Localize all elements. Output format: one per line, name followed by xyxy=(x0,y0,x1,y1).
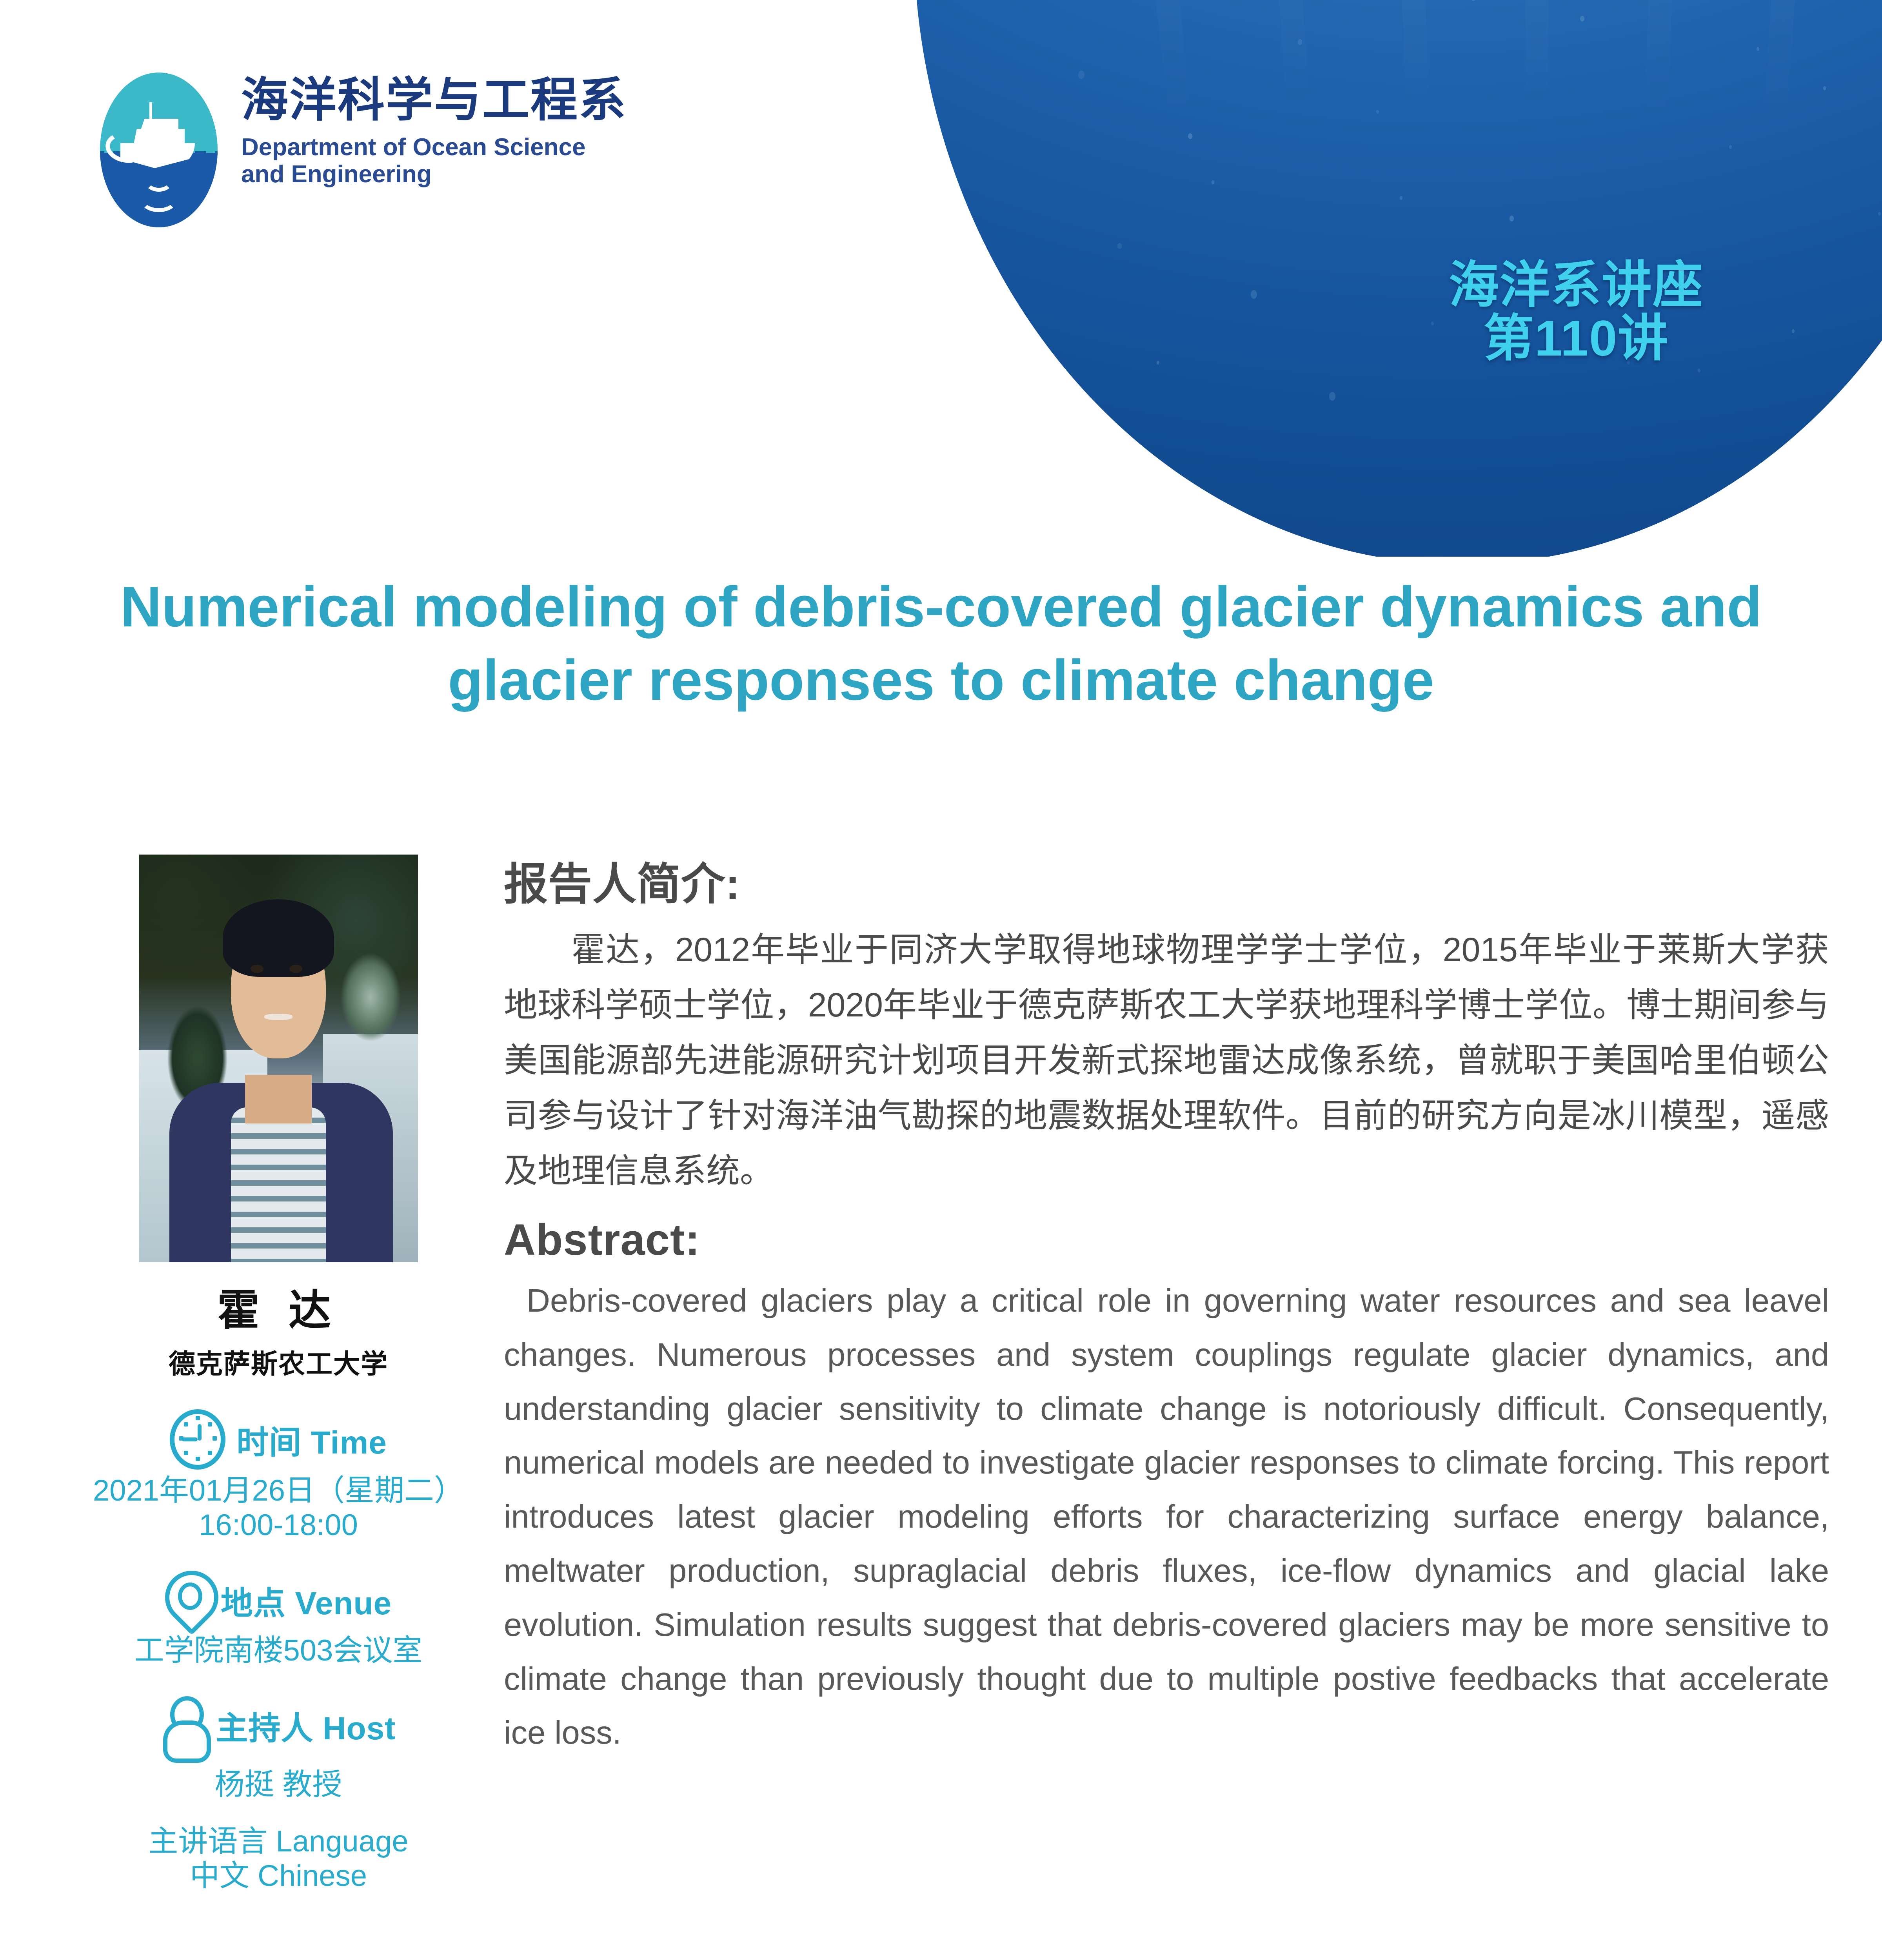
content-column: 报告人简介: 霍达，2012年毕业于同济大学取得地球物理学学士学位，2015年毕… xyxy=(504,849,1829,1760)
speaker-photo xyxy=(139,855,418,1262)
ship-wave-logo-icon xyxy=(100,73,218,227)
venue-block: 地点 Venue 工学院南楼503会议室 xyxy=(71,1571,486,1668)
person-icon xyxy=(161,1696,205,1754)
bio-heading: 报告人简介: xyxy=(504,849,1829,912)
location-pin-icon xyxy=(165,1571,210,1630)
lecture-series-line2: 第110讲 xyxy=(1361,312,1792,365)
language-value: 中文 Chinese xyxy=(71,1859,486,1893)
language-label: 主讲语言 Language xyxy=(71,1824,486,1859)
speaker-sidebar: 霍 达 德克萨斯农工大学 时间 Time 2021年01月26日（星期二） 16… xyxy=(71,855,486,1893)
lecture-series-badge: 海洋系讲座 第110讲 xyxy=(1361,259,1792,365)
venue-label: 地点 Venue xyxy=(221,1577,392,1624)
abstract-text: Debris-covered glaciers play a critical … xyxy=(504,1274,1829,1760)
department-name-en-line2: and Engineering xyxy=(241,161,627,188)
department-name-en-line1: Department of Ocean Science xyxy=(241,134,627,161)
speaker-affiliation: 德克萨斯农工大学 xyxy=(71,1342,486,1381)
page-title: Numerical modeling of debris-covered gla… xyxy=(94,570,1788,717)
clock-icon xyxy=(170,1409,225,1470)
time-block: 时间 Time 2021年01月26日（星期二） 16:00-18:00 xyxy=(71,1409,486,1543)
department-logo: 海洋科学与工程系 Department of Ocean Science and… xyxy=(100,73,735,237)
abstract-heading: Abstract: xyxy=(504,1214,1829,1265)
language-block: 主讲语言 Language 中文 Chinese xyxy=(71,1824,486,1893)
host-label: 主持人 Host xyxy=(216,1702,396,1749)
time-value-hours: 16:00-18:00 xyxy=(71,1508,486,1543)
lecture-series-line1: 海洋系讲座 xyxy=(1361,259,1792,312)
time-label: 时间 Time xyxy=(236,1416,387,1463)
host-block: 主持人 Host 杨挺 教授 xyxy=(71,1696,486,1802)
host-value: 杨挺 教授 xyxy=(71,1768,486,1802)
venue-value: 工学院南楼503会议室 xyxy=(71,1633,486,1668)
time-value-date: 2021年01月26日（星期二） xyxy=(71,1474,486,1508)
bio-text: 霍达，2012年毕业于同济大学取得地球物理学学士学位，2015年毕业于莱斯大学获… xyxy=(504,922,1829,1199)
speaker-name: 霍 达 xyxy=(71,1276,486,1338)
department-name-cn: 海洋科学与工程系 xyxy=(241,76,627,123)
